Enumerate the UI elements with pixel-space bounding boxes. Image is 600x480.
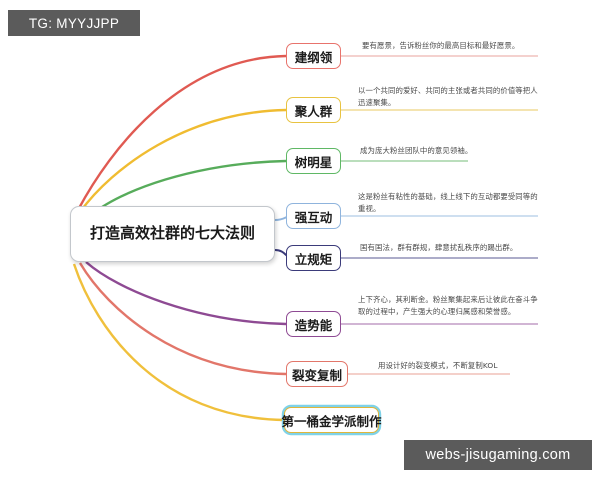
branch-label-4: 强互动 <box>295 207 333 226</box>
curve-branch-6 <box>86 262 286 324</box>
branch-node-liebianfuzhi[interactable]: 裂变复制 <box>286 361 348 387</box>
branch-desc-3: 成为庞大粉丝团队中的意见领袖。 <box>360 145 540 157</box>
watermark-top-left: TG: MYYJJPP <box>8 10 140 36</box>
branch-label-1: 建纲领 <box>295 47 333 66</box>
branch-desc-5: 国有国法，群有群规，肆意扰乱秩序的踢出群。 <box>360 242 540 254</box>
branch-node-liguiju[interactable]: 立规矩 <box>286 245 341 271</box>
branch-node-jiangangling[interactable]: 建纲领 <box>286 43 341 69</box>
watermark-bottom-right: webs-jisugaming.com <box>404 440 592 470</box>
curve-branch-8 <box>74 264 284 420</box>
branch-label-7: 裂变复制 <box>292 365 342 384</box>
branch-label-5: 立规矩 <box>295 249 333 268</box>
branch-node-shumingxing[interactable]: 树明星 <box>286 148 341 174</box>
center-node[interactable]: 打造高效社群的七大法则 <box>70 206 275 262</box>
branch-node-jurenqun[interactable]: 聚人群 <box>286 97 341 123</box>
curve-branch-2 <box>80 110 286 212</box>
mindmap-canvas: TG: MYYJJPP webs-jisugaming.com 打造高效社群的七… <box>0 0 600 480</box>
curve-branch-1 <box>78 56 286 210</box>
branch-label-3: 树明星 <box>295 152 333 171</box>
branch-desc-6: 上下齐心，其利断金。粉丝聚集起来后让彼此在奋斗争取的过程中，产生强大的心理归属感… <box>358 294 538 317</box>
branch-desc-7: 用设计好的裂变模式，不断复制KOL <box>378 360 548 372</box>
branch-desc-4: 这是粉丝有粘性的基础，线上线下的互动都要受同等的重视。 <box>358 191 540 214</box>
branch-desc-2: 以一个共同的爱好、共同的主张或者共同的价值等把人迅速聚集。 <box>358 85 540 108</box>
branch-label-6: 造势能 <box>295 315 333 334</box>
branch-node-diyitongjin[interactable]: 第一桶金学派制作 <box>284 407 379 433</box>
curve-branch-7 <box>80 263 286 374</box>
branch-label-2: 聚人群 <box>295 101 333 120</box>
branch-node-qianghudong[interactable]: 强互动 <box>286 203 341 229</box>
branch-label-8: 第一桶金学派制作 <box>282 411 382 430</box>
branch-node-zaoshineng[interactable]: 造势能 <box>286 311 341 337</box>
branch-desc-1: 要有愿景，告诉粉丝你的最高目标和最好愿景。 <box>362 40 542 52</box>
center-node-label: 打造高效社群的七大法则 <box>80 224 265 244</box>
